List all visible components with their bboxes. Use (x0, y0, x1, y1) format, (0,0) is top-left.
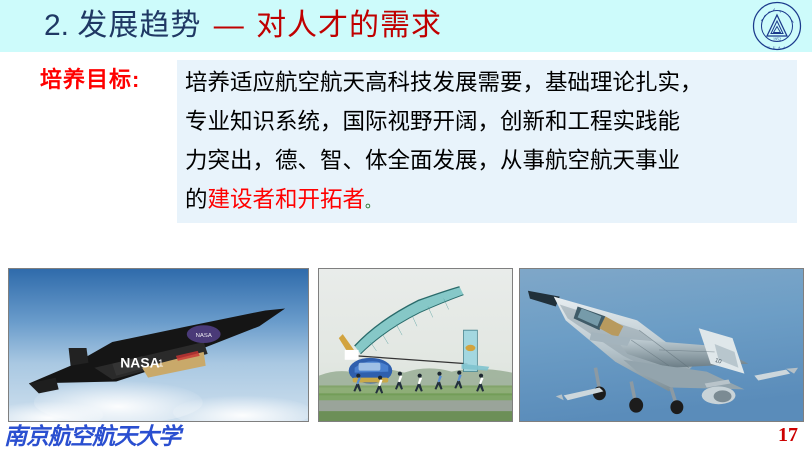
footer-school-name: 南京航空航天大学 (4, 417, 180, 451)
x43a-marking-number: 1 (158, 359, 164, 370)
nuaa-seal-logo: 1952 N U A A (752, 1, 802, 51)
objective-label: 培养目标: (40, 62, 140, 94)
seal-abbr: N U A A (767, 46, 786, 50)
objective-line-2: 专业知识系统，国际视野开阔，创新和工程实践能 (185, 103, 787, 142)
objective-period: 。 (365, 193, 380, 211)
photo-human-powered-aircraft (318, 268, 513, 422)
objective-highlight: 建设者和开拓者 (208, 187, 366, 213)
objective-line-4-prefix: 的 (185, 187, 208, 213)
title-main: 发展趋势 (77, 9, 201, 42)
photo-j10-fighter: 10 (519, 268, 804, 422)
title-subject: 对人才的需求 (256, 9, 442, 42)
seal-year: 1952 (773, 37, 781, 42)
x43a-nasa-text: NASA (120, 355, 159, 371)
title-number: 2. (44, 9, 69, 42)
photo-nasa-x43a: NASA NASA 1 (8, 268, 309, 422)
svg-text:NASA: NASA (196, 333, 212, 339)
objective-text-box: 培养适应航空航天高科技发展需要，基础理论扎实， 专业知识系统，国际视野开阔，创新… (177, 60, 797, 223)
page-number: 17 (778, 424, 798, 447)
title-dash: — (210, 9, 248, 42)
page-title: 2. 发展趋势 — 对人才的需求 (44, 6, 442, 46)
objective-line-1: 培养适应航空航天高科技发展需要，基础理论扎实， (185, 64, 787, 103)
objective-line-4: 的建设者和开拓者。 (185, 181, 787, 222)
objective-line-3: 力突出，德、智、体全面发展，从事航空航天事业 (185, 142, 787, 181)
